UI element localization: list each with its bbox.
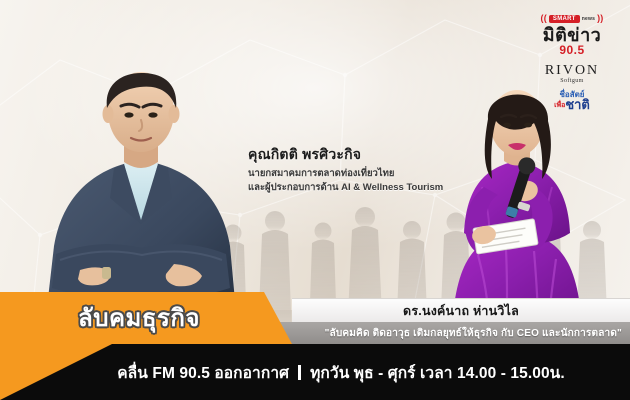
broadcast-info-text: คลื่น FM 90.5 ออกอากาศ ทุกวัน พุธ - ศุกร…	[65, 360, 565, 385]
broadcast-separator-icon	[298, 365, 301, 380]
broadcast-promo-graphic: (( SMART news )) มิติข่าว 90.5 RIVON Sof…	[0, 0, 630, 400]
show-title: ลับคมธุรกิจ	[78, 298, 214, 339]
logo-stack: (( SMART news )) มิติข่าว 90.5 RIVON Sof…	[520, 8, 624, 111]
show-tagline: "ลับคมคิด ติดอาวุธ เติมกลยุทธ์ให้ธุรกิจ …	[325, 326, 622, 341]
tagline-strip: "ลับคมคิด ติดอาวุธ เติมกลยุทธ์ให้ธุรกิจ …	[265, 322, 630, 344]
slogan-bottom-text: เพื่อชาติ	[554, 98, 590, 111]
smart-news-label: news	[582, 16, 595, 22]
smart-pill-label: SMART	[549, 15, 580, 23]
broadcast-channel: คลื่น FM 90.5 ออกอากาศ	[117, 360, 289, 385]
guest-caption: คุณกิตติ พรศิวะกิจ นายกสมาคมการตลาดท่องเ…	[248, 146, 488, 195]
guest-role-line-2: และผู้ประกอบการด้าน AI & Wellness Touris…	[248, 181, 488, 195]
slogan-prefix-text: เพื่อ	[554, 102, 565, 109]
show-title-banner: ลับคมธุรกิจ	[0, 292, 292, 344]
rivon-sponsor-logo: RIVON Softgum	[545, 64, 599, 84]
smart-news-badge: (( SMART news ))	[541, 14, 604, 23]
station-frequency: 90.5	[541, 44, 604, 57]
host-name-strip: ดร.นงค์นาถ ห่านวิไล	[292, 298, 630, 322]
rivon-wordmark: RIVON	[545, 64, 599, 78]
rivon-subtitle: Softgum	[545, 78, 599, 84]
slogan-nation-text: ชาติ	[565, 97, 590, 112]
broadcast-info-bar: คลื่น FM 90.5 ออกอากาศ ทุกวัน พุธ - ศุกร…	[0, 344, 630, 400]
honest-for-nation-logo: ชื่อสัตย์ เพื่อชาติ	[554, 91, 590, 111]
guest-role-line-1: นายกสมาคมการตลาดท่องเที่ยวไทย	[248, 167, 488, 181]
program-name: มิติข่าว	[541, 26, 604, 44]
badge-paren-right-icon: ))	[597, 14, 603, 23]
host-photo-woman	[422, 83, 612, 328]
badge-paren-left-icon: ((	[541, 14, 547, 23]
host-name: ดร.นงค์นาถ ห่านวิไล	[403, 301, 519, 321]
mitikhao-logo: (( SMART news )) มิติข่าว 90.5	[541, 8, 604, 57]
guest-name: คุณกิตติ พรศิวะกิจ	[248, 146, 488, 164]
broadcast-schedule: ทุกวัน พุธ - ศุกร์ เวลา 14.00 - 15.00น.	[310, 360, 565, 385]
